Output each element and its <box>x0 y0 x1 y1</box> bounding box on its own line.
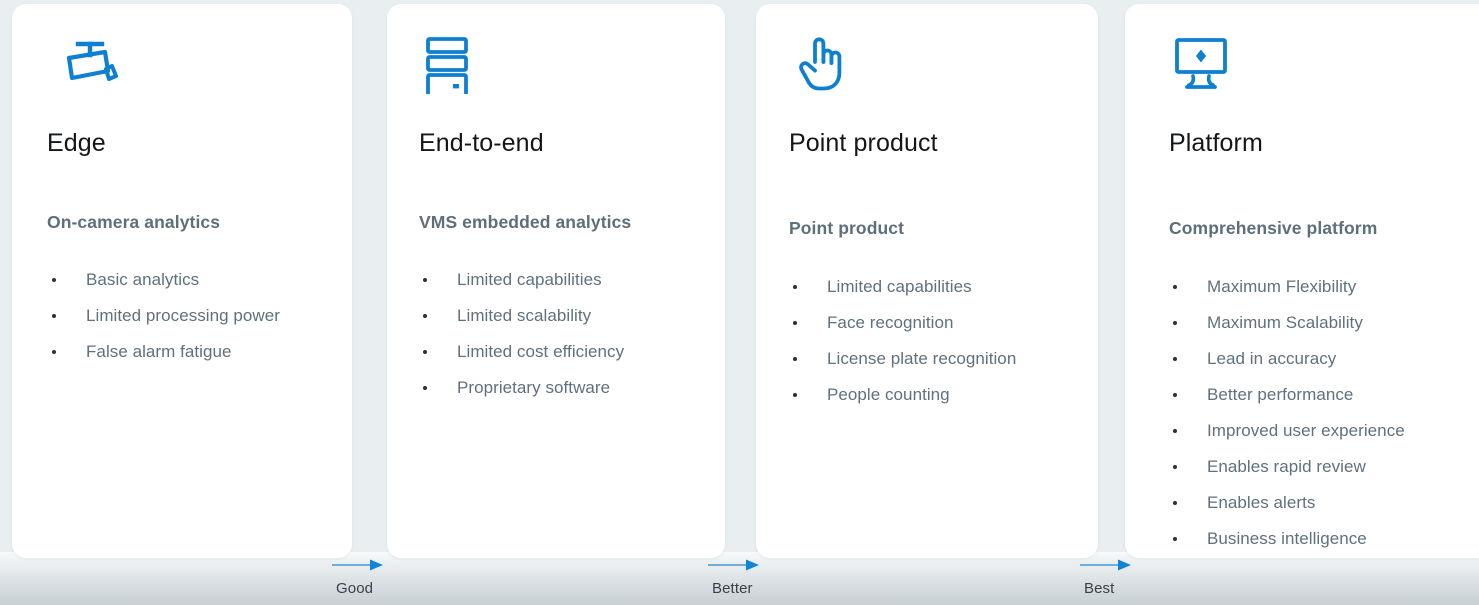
list-item: Limited capabilities <box>789 269 1016 305</box>
bullet-dot-icon <box>1173 465 1177 469</box>
list-item-label: Maximum Scalability <box>1207 313 1363 332</box>
card-point-product[interactable]: Point product Point product Limited capa… <box>756 4 1098 558</box>
server-rack-icon <box>419 30 483 94</box>
bullet-dot-icon <box>52 314 56 318</box>
list-item-label: People counting <box>827 385 950 404</box>
list-item-label: Lead in accuracy <box>1207 349 1336 368</box>
right-arrow-icon <box>330 558 386 577</box>
list-item: Enables rapid review <box>1169 449 1405 485</box>
list-item-label: License plate recognition <box>827 349 1016 368</box>
card-bullet-list: Basic analytics Limited processing power… <box>48 262 280 370</box>
comparison-diagram: Edge On-camera analytics Basic analytics… <box>0 0 1479 605</box>
security-camera-icon <box>58 30 122 94</box>
bullet-dot-icon <box>52 350 56 354</box>
bullet-dot-icon <box>423 386 427 390</box>
card-subtitle: Comprehensive platform <box>1169 218 1377 239</box>
list-item: License plate recognition <box>789 341 1016 377</box>
bullet-dot-icon <box>423 350 427 354</box>
card-title: End-to-end <box>419 129 544 158</box>
list-item-label: Limited cost efficiency <box>457 342 624 361</box>
list-item-label: Limited processing power <box>86 306 280 325</box>
list-item: False alarm fatigue <box>48 334 280 370</box>
card-end-to-end[interactable]: End-to-end VMS embedded analytics Limite… <box>387 4 725 558</box>
list-item: Lead in accuracy <box>1169 341 1405 377</box>
bullet-dot-icon <box>1173 357 1177 361</box>
list-item-label: Limited capabilities <box>457 270 602 289</box>
bullet-dot-icon <box>793 285 797 289</box>
list-item: Enables alerts <box>1169 485 1405 521</box>
list-item: Improved user experience <box>1169 413 1405 449</box>
list-item: Proprietary software <box>419 370 624 406</box>
list-item: People counting <box>789 377 1016 413</box>
list-item-label: Basic analytics <box>86 270 199 289</box>
list-item-label: Limited scalability <box>457 306 591 325</box>
right-arrow-icon <box>1078 558 1134 577</box>
bullet-dot-icon <box>1173 429 1177 433</box>
list-item-label: Face recognition <box>827 313 953 332</box>
list-item: Limited cost efficiency <box>419 334 624 370</box>
list-item: Face recognition <box>789 305 1016 341</box>
list-item: Maximum Flexibility <box>1169 269 1405 305</box>
bullet-dot-icon <box>793 393 797 397</box>
bullet-dot-icon <box>1173 285 1177 289</box>
pointing-hand-icon <box>789 32 853 96</box>
card-subtitle: Point product <box>789 218 904 239</box>
list-item-label: Better performance <box>1207 385 1353 404</box>
card-bullet-list: Limited capabilities Face recognition Li… <box>789 269 1016 413</box>
list-item-label: Enables alerts <box>1207 493 1315 512</box>
list-item: Limited scalability <box>419 298 624 334</box>
bullet-dot-icon <box>52 278 56 282</box>
scale-label: Best <box>1084 580 1114 597</box>
list-item: Limited processing power <box>48 298 280 334</box>
list-item-label: False alarm fatigue <box>86 342 232 361</box>
list-item-label: Improved user experience <box>1207 421 1405 440</box>
list-item-label: Proprietary software <box>457 378 610 397</box>
bullet-dot-icon <box>423 314 427 318</box>
list-item: Maximum Scalability <box>1169 305 1405 341</box>
card-title: Edge <box>47 129 106 158</box>
scale-label: Good <box>336 580 373 597</box>
bullet-dot-icon <box>1173 321 1177 325</box>
bullet-dot-icon <box>1173 537 1177 541</box>
scale-label: Better <box>712 580 753 597</box>
list-item: Basic analytics <box>48 262 280 298</box>
bullet-dot-icon <box>423 278 427 282</box>
card-platform[interactable]: Platform Comprehensive platform Maximum … <box>1125 4 1479 558</box>
card-row: Edge On-camera analytics Basic analytics… <box>0 0 1479 562</box>
monitor-platform-icon <box>1169 32 1233 96</box>
list-item: Limited capabilities <box>419 262 624 298</box>
card-bullet-list: Limited capabilities Limited scalability… <box>419 262 624 406</box>
card-title: Platform <box>1169 129 1263 158</box>
bullet-dot-icon <box>1173 501 1177 505</box>
bullet-dot-icon <box>793 357 797 361</box>
list-item-label: Limited capabilities <box>827 277 972 296</box>
list-item-label: Business intelligence <box>1207 529 1367 548</box>
list-item-label: Enables rapid review <box>1207 457 1366 476</box>
list-item: Business intelligence <box>1169 521 1405 557</box>
card-bullet-list: Maximum Flexibility Maximum Scalability … <box>1169 269 1405 557</box>
card-subtitle: On-camera analytics <box>47 212 220 233</box>
card-edge[interactable]: Edge On-camera analytics Basic analytics… <box>12 4 352 558</box>
card-subtitle: VMS embedded analytics <box>419 212 631 233</box>
list-item-label: Maximum Flexibility <box>1207 277 1356 296</box>
bullet-dot-icon <box>793 321 797 325</box>
bullet-dot-icon <box>1173 393 1177 397</box>
right-arrow-icon <box>706 558 762 577</box>
card-title: Point product <box>789 129 938 158</box>
list-item: Better performance <box>1169 377 1405 413</box>
